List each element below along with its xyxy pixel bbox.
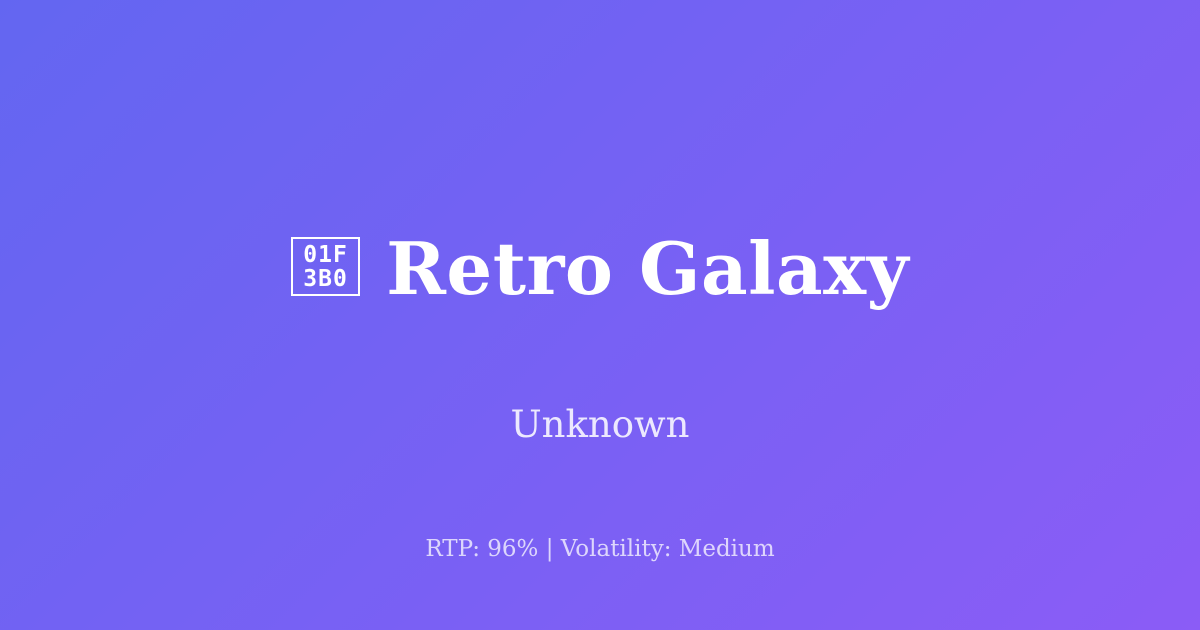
tofu-codepoint-top: 01F <box>303 243 348 267</box>
tofu-codepoint-bottom: 3B0 <box>303 267 348 291</box>
provider-subtitle: Unknown <box>510 403 689 447</box>
slot-machine-icon: 01F 3B0 <box>291 237 360 296</box>
page-title: Retro Galaxy <box>386 231 909 307</box>
title-row: 01F 3B0 Retro Galaxy <box>0 183 1200 355</box>
game-meta-line: RTP: 96% | Volatility: Medium <box>0 536 1200 564</box>
og-share-card: 01F 3B0 Retro Galaxy Unknown RTP: 96% | … <box>0 0 1200 630</box>
